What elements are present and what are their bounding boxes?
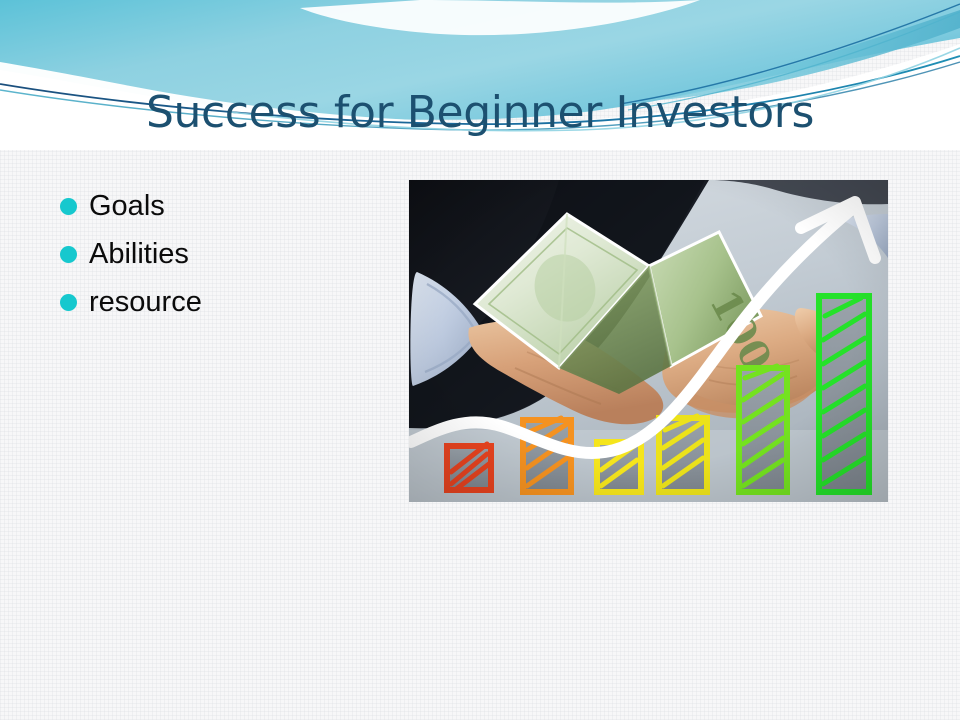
photo-illustration: 100: [409, 180, 888, 502]
slide-photo: 100: [409, 180, 888, 502]
bullet-item-resource: resource: [60, 278, 380, 326]
presentation-slide: Success for Beginner Investors Goals Abi…: [0, 0, 960, 720]
bullet-label: Goals: [89, 189, 165, 223]
bullet-item-goals: Goals: [60, 182, 380, 230]
bullet-dot-icon: [60, 198, 77, 215]
bullet-list: Goals Abilities resource: [60, 182, 380, 326]
photo-vignette: [409, 180, 888, 502]
bullet-dot-icon: [60, 246, 77, 263]
bullet-label: Abilities: [89, 237, 189, 271]
bullet-item-abilities: Abilities: [60, 230, 380, 278]
slide-title: Success for Beginner Investors: [0, 86, 960, 140]
bullet-label: resource: [89, 285, 202, 319]
bullet-dot-icon: [60, 294, 77, 311]
